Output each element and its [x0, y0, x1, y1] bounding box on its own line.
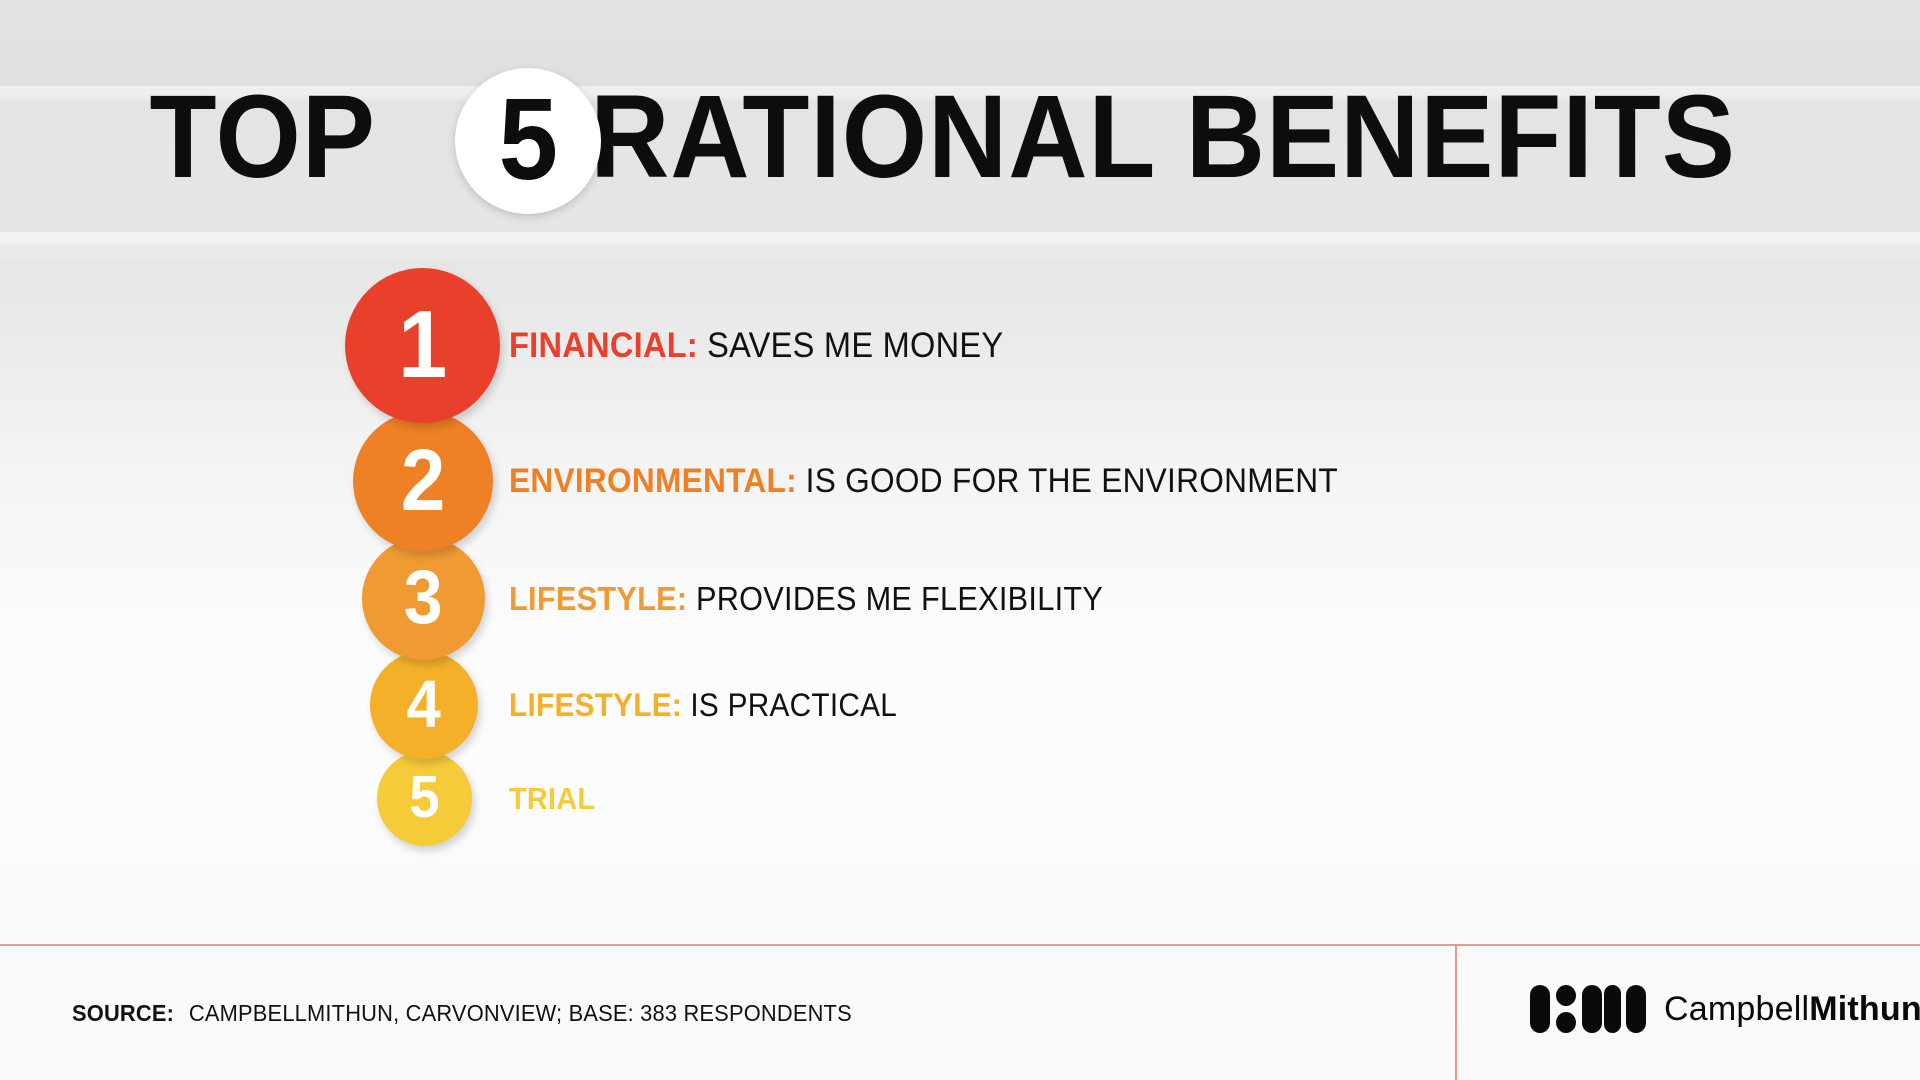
logo-dot-bottom-icon: [1556, 1012, 1576, 1033]
benefit-rank-number: 4: [407, 671, 441, 738]
footer-divider-vertical: [1455, 945, 1457, 1080]
logo-word-campbell: Campbell: [1664, 990, 1809, 1028]
logo-word-mithun: Mithun: [1809, 990, 1920, 1028]
benefit-label: TRIAL: [509, 783, 602, 814]
benefit-rank-circle: 5: [377, 751, 472, 846]
benefit-rank-circle: 4: [370, 651, 478, 759]
benefit-description: SAVES ME MONEY: [707, 326, 1003, 365]
benefit-label: FINANCIAL: SAVES ME MONEY: [509, 328, 1041, 363]
logo-mark-icon: [1530, 985, 1646, 1033]
header-banner: TOP RATIONAL BENEFITS 5: [0, 0, 1920, 258]
benefit-rank-circle: 2: [353, 411, 493, 551]
badge-number-five-label: 5: [498, 81, 557, 197]
logo-pill-4-icon: [1626, 985, 1646, 1033]
logo-dot-top-icon: [1556, 985, 1576, 1006]
source-note: SOURCE: CAMPBELLMITHUN, CARVONVIEW; BASE…: [72, 1000, 893, 1027]
page-title: TOP RATIONAL BENEFITS: [0, 72, 1920, 202]
benefit-description: PROVIDES ME FLEXIBILITY: [696, 580, 1103, 617]
benefit-rank-number: 2: [401, 437, 446, 524]
benefit-category: LIFESTYLE:: [509, 580, 687, 617]
benefit-label: LIFESTYLE: IS PRACTICAL: [509, 689, 926, 721]
slide-canvas: TOP RATIONAL BENEFITS 5 1FINANCIAL: SAVE…: [0, 0, 1920, 1080]
header-stripe-lower: [0, 232, 1920, 246]
logo-pill-1-icon: [1530, 985, 1550, 1033]
logo-pill-3-icon: [1604, 985, 1621, 1033]
header-band-bottom: [0, 246, 1920, 258]
benefit-rank-number: 3: [404, 560, 443, 636]
logo-wordmark: CampbellMithun: [1664, 990, 1920, 1029]
benefit-description: IS PRACTICAL: [690, 687, 897, 723]
benefit-rank-number: 5: [409, 768, 439, 827]
benefit-category: FINANCIAL:: [509, 326, 698, 365]
source-text: CAMPBELLMITHUN, CARVONVIEW; BASE: 383 RE…: [183, 1000, 852, 1026]
benefits-list: 1FINANCIAL: SAVES ME MONEY2ENVIRONMENTAL…: [0, 268, 1920, 868]
benefit-category: LIFESTYLE:: [509, 687, 682, 723]
benefit-label: ENVIRONMENTAL: IS GOOD FOR THE ENVIRONME…: [509, 464, 1400, 498]
source-label: SOURCE:: [72, 1000, 174, 1026]
benefit-rank-circle: 1: [345, 268, 500, 423]
logo-pill-2-icon: [1582, 985, 1602, 1033]
benefit-rank-circle: 3: [362, 537, 485, 660]
benefit-category: ENVIRONMENTAL:: [509, 462, 797, 500]
campbell-mithun-logo: CampbellMithun: [1530, 985, 1920, 1033]
title-word-top: TOP: [150, 78, 376, 196]
benefit-rank-number: 1: [398, 297, 447, 393]
title-phrase-rational-benefits: RATIONAL BENEFITS: [590, 78, 1736, 196]
footer-divider-horizontal: [0, 944, 1920, 946]
badge-number-five: 5: [455, 68, 601, 214]
benefit-category: TRIAL: [509, 781, 595, 816]
benefit-description: IS GOOD FOR THE ENVIRONMENT: [806, 462, 1338, 500]
benefit-label: LIFESTYLE: PROVIDES ME FLEXIBILITY: [509, 582, 1148, 615]
